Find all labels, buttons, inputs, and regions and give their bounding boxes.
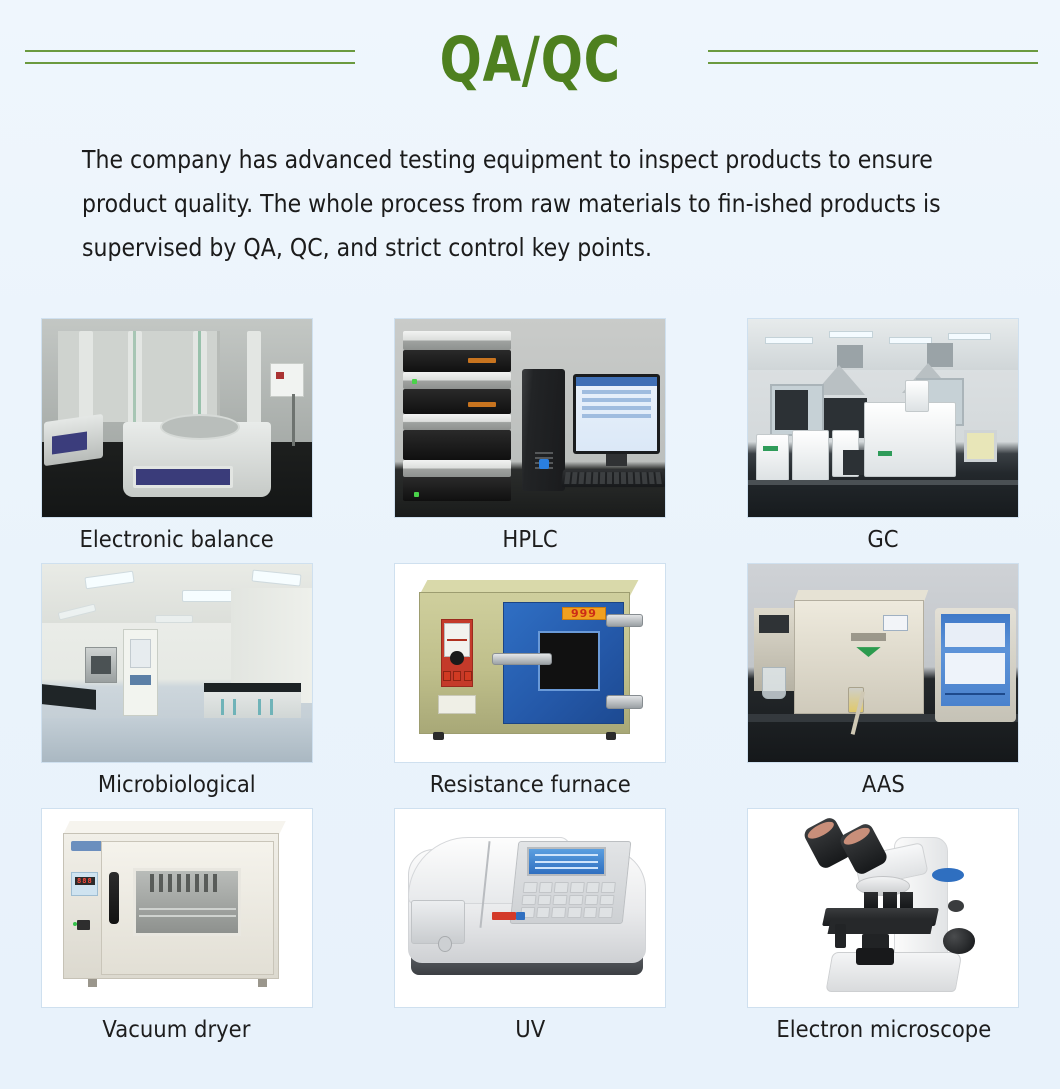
dryer-display-value: 888 xyxy=(75,877,95,885)
atomic-absorption-spectrometer-photo xyxy=(747,563,1019,763)
gallery-item-caption: AAS xyxy=(862,774,905,797)
gallery-item[interactable]: Microbiological xyxy=(0,563,353,808)
gallery-item-caption: HPLC xyxy=(502,529,557,552)
furnace-badge-label: 999 xyxy=(562,607,605,621)
qa-qc-page: QA/QC The company has advanced testing e… xyxy=(0,0,1060,1089)
gallery-item-caption: Vacuum dryer xyxy=(103,1019,251,1042)
hplc-system-photo xyxy=(394,318,666,518)
uv-spectrophotometer-photo xyxy=(394,808,666,1008)
gallery-item[interactable]: Electronic balance xyxy=(0,318,353,563)
gallery-item-caption: Resistance furnace xyxy=(430,774,631,797)
rule-line xyxy=(25,62,355,64)
analytical-balance-photo xyxy=(41,318,313,518)
gallery-item[interactable]: 888 Vacuum dryer xyxy=(0,808,353,1053)
vacuum-dryer-photo: 888 xyxy=(41,808,313,1008)
gallery-item-caption: Electron microscope xyxy=(776,1019,991,1042)
gallery-item-caption: Microbiological xyxy=(98,774,256,797)
gallery-item[interactable]: GC xyxy=(707,318,1060,563)
gallery-item-caption: GC xyxy=(868,529,899,552)
equipment-gallery: Electronic balance xyxy=(0,318,1060,1053)
gallery-item[interactable]: HPLC xyxy=(353,318,706,563)
header-rule-left xyxy=(25,50,355,64)
gallery-item[interactable]: 999 Resistance furnace xyxy=(353,563,706,808)
rule-line xyxy=(25,50,355,52)
intro-paragraph: The company has advanced testing equipme… xyxy=(82,138,973,270)
cleanroom-photo xyxy=(41,563,313,763)
gallery-item[interactable]: UV xyxy=(353,808,706,1053)
page-header: QA/QC xyxy=(0,0,1060,120)
gallery-item[interactable]: AAS xyxy=(707,563,1060,808)
rule-line xyxy=(708,50,1038,52)
microscope-photo xyxy=(747,808,1019,1008)
gallery-item[interactable]: Electron microscope xyxy=(707,808,1060,1053)
gas-chromatograph-photo xyxy=(747,318,1019,518)
gallery-item-caption: UV xyxy=(515,1019,545,1042)
gallery-item-caption: Electronic balance xyxy=(79,529,273,552)
page-title: QA/QC xyxy=(439,29,620,91)
rule-line xyxy=(708,62,1038,64)
resistance-furnace-photo: 999 xyxy=(394,563,666,763)
header-rule-right xyxy=(708,50,1038,64)
